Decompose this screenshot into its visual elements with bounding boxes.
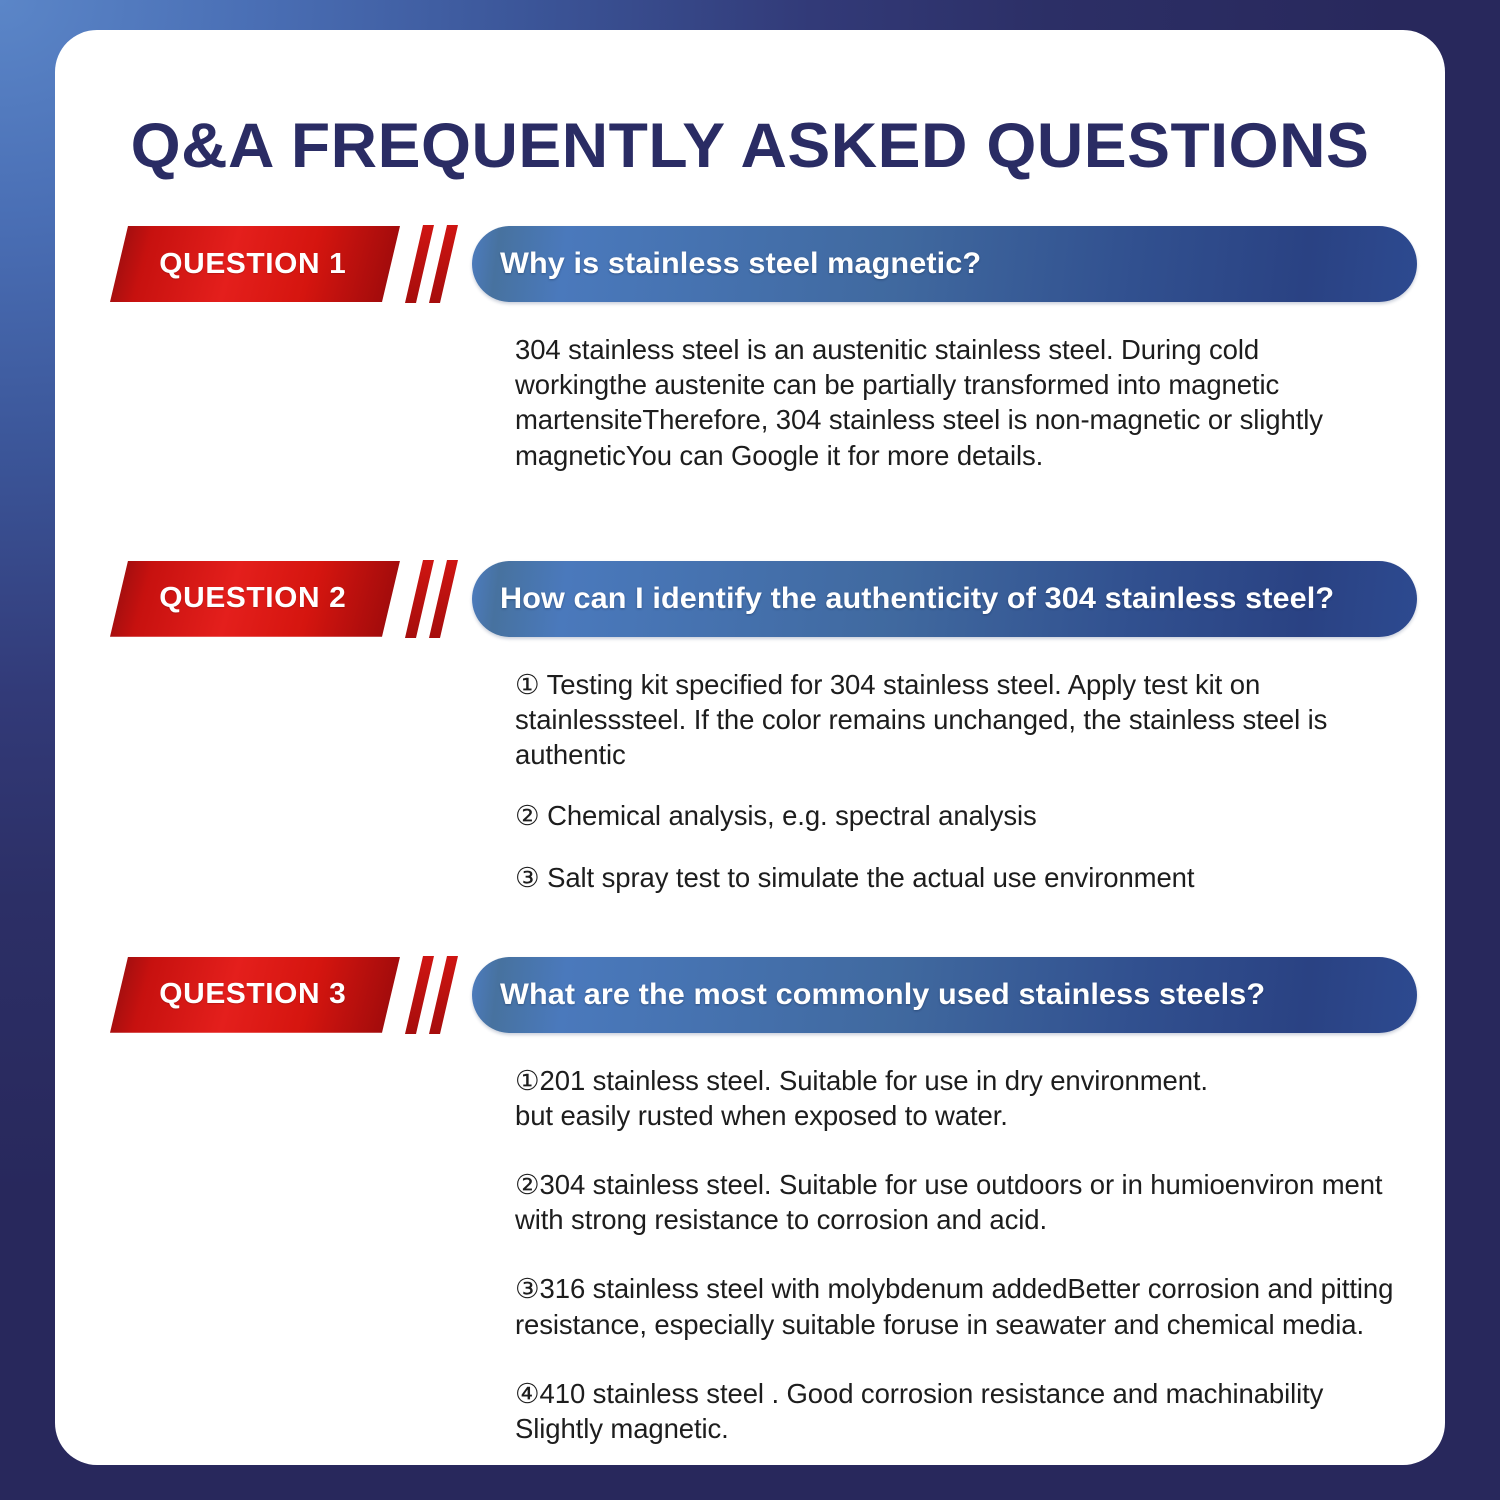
slash-icon-b [429,225,458,303]
answer-paragraph: ③ Salt spray test to simulate the actual… [515,860,1397,895]
question-pill-1: Why is stainless steel magnetic? [472,226,1417,302]
double-slash-icon-2 [408,561,466,637]
question-pill-3: What are the most commonly used stainles… [472,957,1417,1033]
answer-body-2: ① Testing kit specified for 304 stainles… [515,637,1397,895]
answer-paragraph: ② Chemical analysis, e.g. spectral analy… [515,798,1397,833]
question-header-3: QUESTION 3 What are the most commonly us… [110,957,1417,1033]
answer-paragraph: ②304 stainless steel. Suitable for use o… [515,1167,1397,1237]
answer-paragraph: ①201 stainless steel. Suitable for use i… [515,1063,1397,1133]
slash-icon-a [405,560,434,638]
answer-body-3: ①201 stainless steel. Suitable for use i… [515,1033,1397,1447]
question-badge-label-2: QUESTION 2 [159,582,346,615]
question-badge-label-3: QUESTION 3 [159,978,346,1011]
question-header-1: QUESTION 1 Why is stainless steel magnet… [110,226,1417,302]
question-badge-1: QUESTION 1 [110,226,400,302]
double-slash-icon-1 [408,226,466,302]
answer-paragraph: ① Testing kit specified for 304 stainles… [515,667,1397,773]
question-text-1: Why is stainless steel magnetic? [500,247,981,281]
slash-icon-a [405,225,434,303]
question-badge-label-1: QUESTION 1 [159,248,346,281]
question-text-3: What are the most commonly used stainles… [500,978,1265,1012]
question-header-2: QUESTION 2 How can I identify the authen… [110,561,1417,637]
slash-icon-a [405,956,434,1034]
answer-paragraph: 304 stainless steel is an austenitic sta… [515,332,1397,473]
question-pill-2: How can I identify the authenticity of 3… [472,561,1417,637]
answer-paragraph: ④410 stainless steel . Good corrosion re… [515,1376,1397,1446]
faq-card: Q&A FREQUENTLY ASKED QUESTIONS QUESTION … [55,30,1445,1465]
slash-icon-b [429,560,458,638]
faq-block-question-3: QUESTION 3 What are the most commonly us… [55,957,1445,1447]
faq-block-question-1: QUESTION 1 Why is stainless steel magnet… [55,226,1445,473]
answer-body-1: 304 stainless steel is an austenitic sta… [515,302,1397,473]
double-slash-icon-3 [408,957,466,1033]
faq-question-list: QUESTION 1 Why is stainless steel magnet… [55,226,1445,1446]
page-title: Q&A FREQUENTLY ASKED QUESTIONS [55,115,1445,178]
question-badge-2: QUESTION 2 [110,561,400,637]
question-text-2: How can I identify the authenticity of 3… [500,582,1334,616]
answer-paragraph: ③316 stainless steel with molybdenum add… [515,1271,1397,1341]
slash-icon-b [429,956,458,1034]
question-badge-3: QUESTION 3 [110,957,400,1033]
faq-block-question-2: QUESTION 2 How can I identify the authen… [55,561,1445,895]
